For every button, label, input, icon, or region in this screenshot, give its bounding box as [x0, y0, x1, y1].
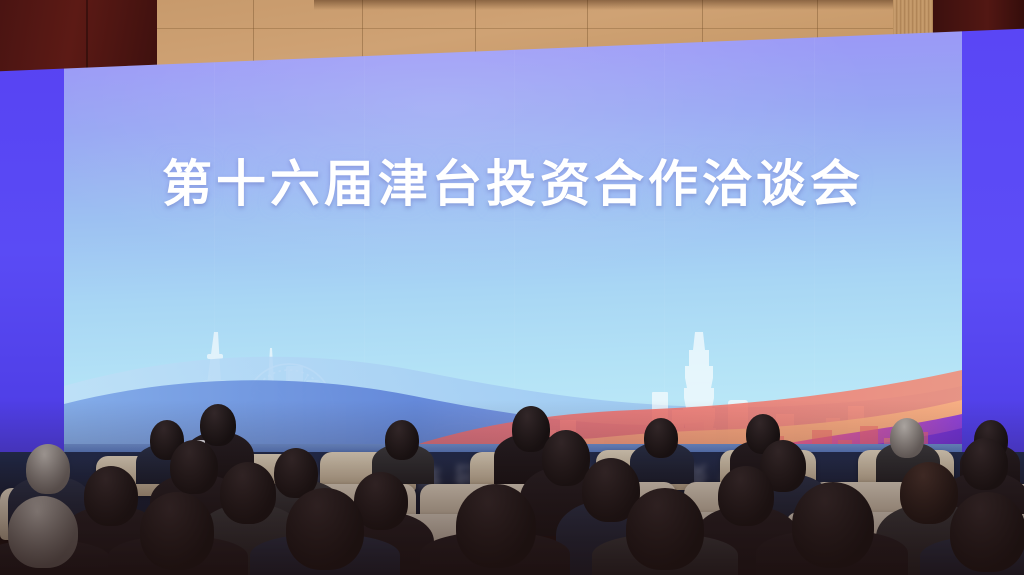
attendee-head — [170, 440, 218, 494]
event-title: 第十六届津台投资合作洽谈会 — [64, 144, 962, 216]
attendee-head — [718, 466, 774, 526]
attendee-head — [220, 462, 276, 524]
attendee-head — [644, 418, 678, 458]
attendee-head — [900, 462, 958, 524]
attendee-head — [792, 482, 874, 568]
attendee-head — [385, 420, 419, 460]
attendee-head — [962, 438, 1008, 490]
attendee-head — [456, 484, 536, 568]
audience-area — [0, 400, 1024, 575]
attendee-head — [26, 444, 70, 494]
attendee-head — [890, 418, 924, 458]
attendee-head — [950, 492, 1024, 572]
attendee-head — [626, 488, 704, 570]
attendee-head — [200, 404, 236, 446]
attendee-head — [542, 430, 590, 486]
attendee-head — [140, 492, 214, 570]
attendee-head — [84, 466, 138, 526]
conference-scene: 第十六届津台投资合作洽谈会 — [0, 0, 1024, 575]
attendee-head — [8, 496, 78, 568]
attendee-head — [286, 488, 364, 570]
